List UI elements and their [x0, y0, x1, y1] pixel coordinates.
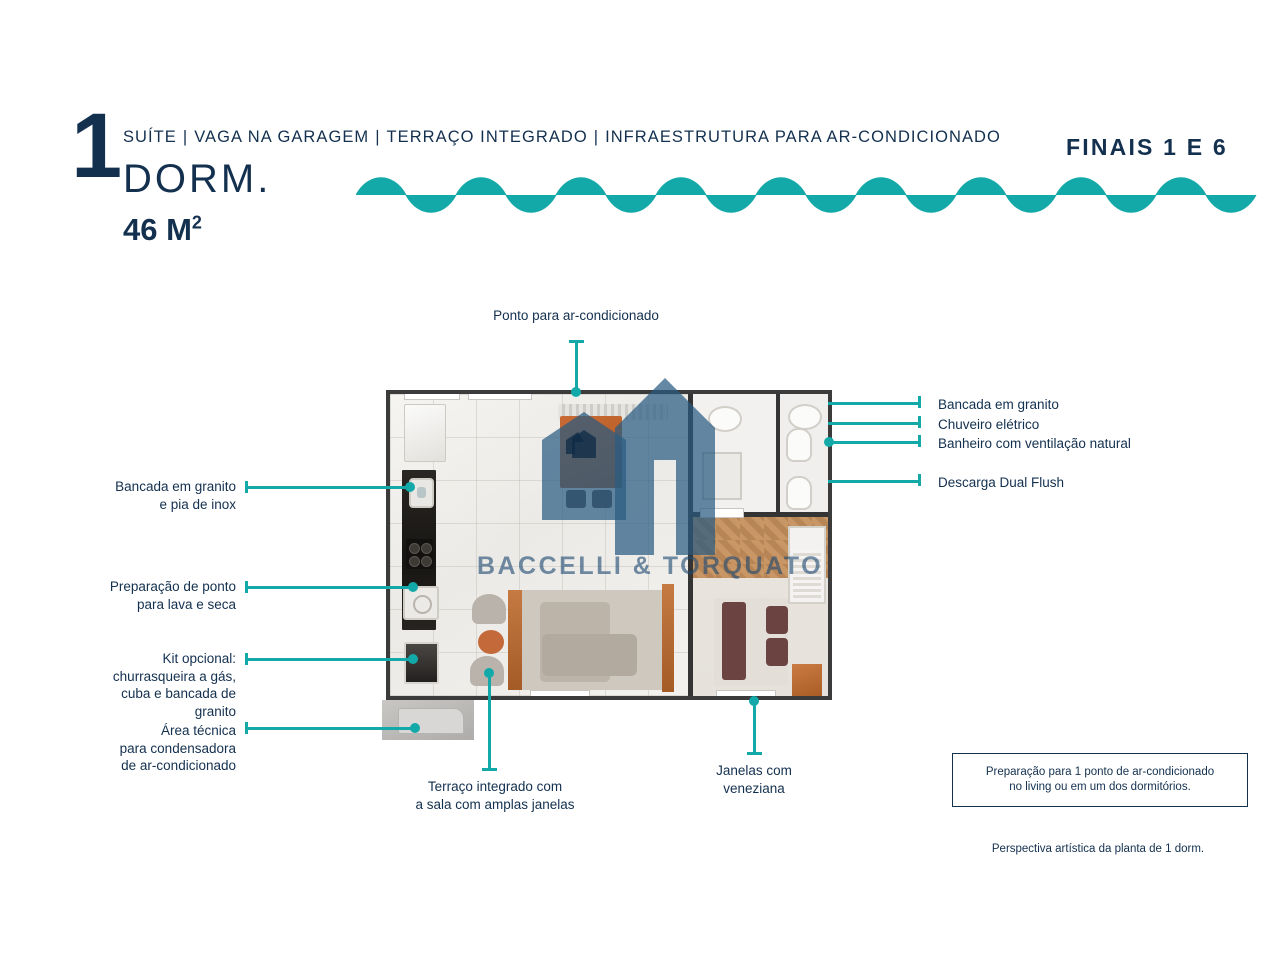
wall-bath-split [776, 394, 780, 516]
unit-count-numeral: 1 [71, 105, 118, 187]
leader-top-dot [571, 387, 581, 397]
wardrobe [788, 526, 826, 604]
suite-basin [788, 404, 822, 430]
area-number: 46 M [123, 212, 192, 247]
leader-bottom1-line [488, 672, 491, 770]
leader-right4-tick [918, 474, 921, 486]
page-root: 1 SUÍTE|VAGA NA GARAGEM|TERRAÇO INTEGRAD… [0, 0, 1280, 960]
annotation-ponto-lava-seca: Preparação de ponto para lava e seca [20, 578, 236, 613]
door-bathroom [700, 508, 744, 518]
area-exponent: 2 [192, 213, 202, 233]
cooktop [406, 539, 433, 569]
leader-right3-line [828, 441, 920, 444]
area-label: 46 M2 [123, 212, 202, 248]
feature-garagem: VAGA NA GARAGEM [194, 128, 369, 146]
leader-bottom2-tick [747, 752, 762, 755]
annotation-terraco-integrado: Terraço integrado com a sala com amplas … [365, 778, 625, 813]
annotation-bancada-granito: Bancada em granito [938, 396, 1268, 414]
fridge-block [404, 404, 446, 462]
window-bedroom-veneziana [716, 690, 776, 700]
leader-left3-line [245, 658, 413, 661]
leader-left1-dot [405, 482, 415, 492]
bathroom-basin [708, 406, 742, 432]
leader-bottom1-dot [484, 668, 494, 678]
wood-floor-strip-right [662, 584, 674, 692]
leader-bottom2-dot [749, 696, 759, 706]
leader-top-tick [569, 340, 584, 343]
leader-left2-dot [408, 582, 418, 592]
note-box-text: Preparação para 1 ponto de ar-condiciona… [986, 765, 1214, 795]
leader-right3-dot [824, 437, 834, 447]
window-top-mid [468, 390, 532, 400]
leader-right2-line [828, 422, 920, 425]
sofa-chaise [542, 634, 637, 676]
leader-right3-tick [918, 435, 921, 447]
leader-left3-dot [408, 654, 418, 664]
annotation-ponto-ar-condicionado: Ponto para ar-condicionado [436, 307, 716, 325]
leader-top-line [575, 340, 578, 392]
disclaimer-caption: Perspectiva artística da planta de 1 dor… [948, 843, 1248, 855]
washer-dryer [403, 586, 439, 620]
nightstand [792, 664, 822, 698]
finais-label: FINAIS 1 E 6 [1066, 134, 1228, 161]
annotation-banheiro-ventilacao: Banheiro com ventilação natural [938, 435, 1278, 453]
annotation-descarga-dual-flush: Descarga Dual Flush [938, 474, 1268, 492]
bed-headboard [722, 602, 746, 680]
wave-divider-icon [356, 172, 1258, 218]
leader-left4-dot [410, 723, 420, 733]
wall-bedroom-living [688, 516, 693, 696]
coffee-table [478, 630, 504, 654]
wood-floor-strip-left [508, 590, 522, 690]
window-top-left [404, 390, 460, 400]
toilet-dual-flush [786, 428, 812, 462]
leader-left1-line [245, 486, 411, 489]
leader-left2-line [245, 586, 413, 589]
leader-right1-line [828, 402, 920, 405]
leader-bottom2-line [753, 700, 756, 754]
annotation-bancada-pia-inox: Bancada em granito e pia de inox [20, 478, 236, 513]
features-line: SUÍTE|VAGA NA GARAGEM|TERRAÇO INTEGRADO|… [123, 128, 1023, 147]
annotation-janelas-veneziana: Janelas com veneziana [634, 762, 874, 797]
window-bottom-living [530, 690, 590, 700]
leader-left4-line [245, 727, 415, 730]
leader-right2-tick [918, 416, 921, 428]
dining-table [560, 416, 622, 488]
condenser-unit [398, 708, 464, 734]
feature-separator-2: | [369, 128, 386, 146]
annotation-area-tecnica: Área técnica para condensadora de ar-con… [20, 722, 236, 775]
feature-terraco: TERRAÇO INTEGRADO [387, 128, 588, 146]
dorm-label: DORM. [123, 157, 271, 202]
bedroom-area [692, 516, 828, 696]
electric-shower [702, 452, 742, 500]
note-box: Preparação para 1 ponto de ar-condiciona… [952, 753, 1248, 807]
feature-suite: SUÍTE [123, 128, 177, 146]
leader-bottom1-tick [482, 768, 497, 771]
feature-separator-1: | [177, 128, 194, 146]
leader-right4-line [828, 480, 920, 483]
terrace-slab [382, 700, 474, 740]
annotation-kit-opcional: Kit opcional: churrasqueira a gás, cuba … [20, 650, 236, 720]
toilet-second [786, 476, 812, 510]
floor-plan-render [386, 390, 832, 700]
leader-right1-tick [918, 396, 921, 408]
feature-ar-condicionado: INFRAESTRUTURA PARA AR-CONDICIONADO [605, 128, 1001, 146]
feature-separator-3: | [588, 128, 605, 146]
annotation-chuveiro-eletrico: Chuveiro elétrico [938, 416, 1268, 434]
wall-bath-living [688, 394, 693, 516]
